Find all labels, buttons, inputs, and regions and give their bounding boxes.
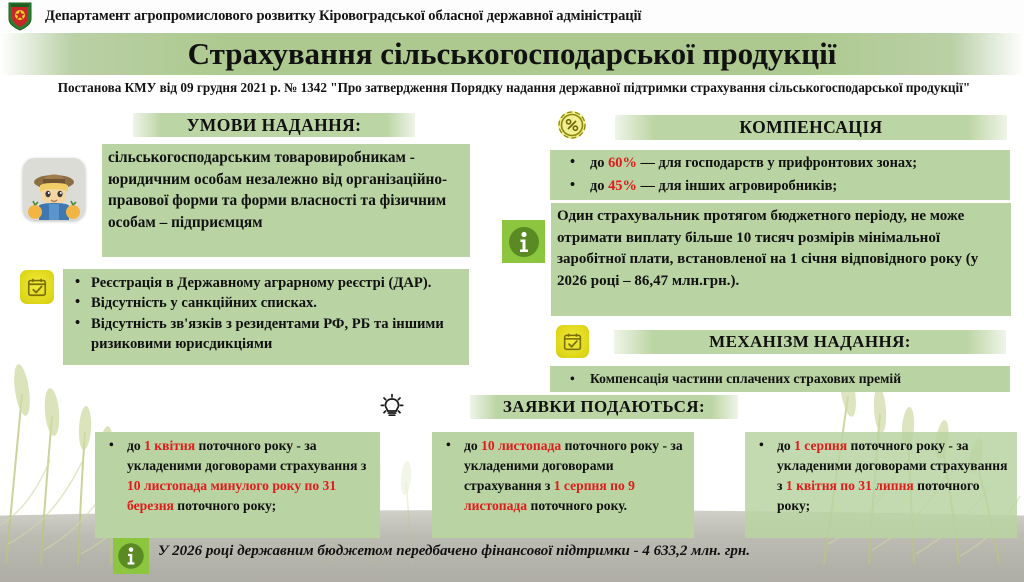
conditions-heading: УМОВИ НАДАННЯ:	[133, 113, 415, 137]
list-item: Компенсація частини сплачених страхових …	[590, 366, 1006, 391]
deadline-box-1: до 1 квітня поточного року - за укладени…	[95, 432, 380, 538]
lightbulb-icon	[377, 392, 407, 422]
plain-text: до	[777, 438, 794, 453]
list-item: до 60% — для господарств у прифронтових …	[590, 152, 1006, 175]
plain-text: до	[127, 438, 144, 453]
accent-text: 1 квітня по 31 липня	[786, 478, 914, 493]
compensation-heading: КОМПЕНСАЦІЯ	[615, 115, 1007, 140]
rate-value: 45%	[608, 178, 637, 194]
budget-note: У 2026 році державним бюджетом передбаче…	[158, 543, 958, 560]
accent-text: 1 серпня	[794, 438, 847, 453]
department-name: Департамент агропромислового розвитку Кі…	[45, 8, 641, 25]
infographic-page: Департамент агропромислового розвитку Кі…	[0, 0, 1024, 582]
calendar-check-icon	[20, 270, 54, 304]
title-banner: Страхування сільськогосподарської продук…	[0, 33, 1024, 75]
compensation-rate-list: до 60% — для господарств у прифронтових …	[554, 152, 1006, 198]
info-icon	[502, 220, 545, 263]
applications-heading: ЗАЯВКИ ПОДАЮТЬСЯ:	[470, 395, 738, 419]
list-item: до 10 листопада поточного року - за укла…	[464, 436, 688, 516]
list-item: Відсутність зв'язків з резидентами РФ, Р…	[91, 314, 463, 355]
plain-text: до	[464, 438, 481, 453]
list-item: до 1 квітня поточного року - за укладени…	[127, 436, 374, 516]
mechanism-heading: МЕХАНІЗМ НАДАННЯ:	[614, 330, 1006, 354]
regulation-subtitle: Постанова КМУ від 09 грудня 2021 р. № 13…	[22, 80, 1006, 96]
deadline-box-3: до 1 серпня поточного року - за укладени…	[745, 432, 1017, 538]
list-item: Відсутність у санкційних списках.	[91, 293, 463, 313]
coat-of-arms-icon	[7, 1, 33, 31]
rate-value: 60%	[608, 155, 637, 171]
list-item: Реєстрація в Державному аграрному реєстр…	[91, 273, 463, 293]
compensation-limit-text: Один страхувальник протягом бюджетного п…	[551, 203, 1011, 316]
compensation-rates: до 60% — для господарств у прифронтових …	[550, 150, 1010, 200]
farmer-avatar-icon	[23, 158, 85, 220]
list-item: до 1 серпня поточного року - за укладени…	[777, 436, 1011, 516]
criteria-items: Реєстрація в Державному аграрному реєстр…	[69, 273, 463, 354]
accent-text: 1 квітня	[144, 438, 195, 453]
page-title: Страхування сільськогосподарської продук…	[188, 36, 837, 72]
plain-text: поточного року;	[174, 498, 276, 513]
calendar-check-icon	[556, 325, 589, 358]
info-icon	[113, 538, 149, 574]
conditions-body: сільськогосподарським товаровиробникам -…	[102, 144, 470, 257]
accent-text: 10 листопада	[481, 438, 561, 453]
mechanism-items: Компенсація частини сплачених страхових …	[554, 366, 1006, 391]
list-item: до 45% — для інших агровиробників;	[590, 175, 1006, 198]
header-bar: Департамент агропромислового розвитку Кі…	[0, 0, 1024, 32]
plain-text: поточного року.	[527, 498, 627, 513]
criteria-list: Реєстрація в Державному аграрному реєстр…	[63, 269, 469, 365]
mechanism-list: Компенсація частини сплачених страхових …	[550, 366, 1010, 392]
percent-circle-icon	[557, 110, 587, 140]
deadline-box-2: до 10 листопада поточного року - за укла…	[432, 432, 694, 538]
